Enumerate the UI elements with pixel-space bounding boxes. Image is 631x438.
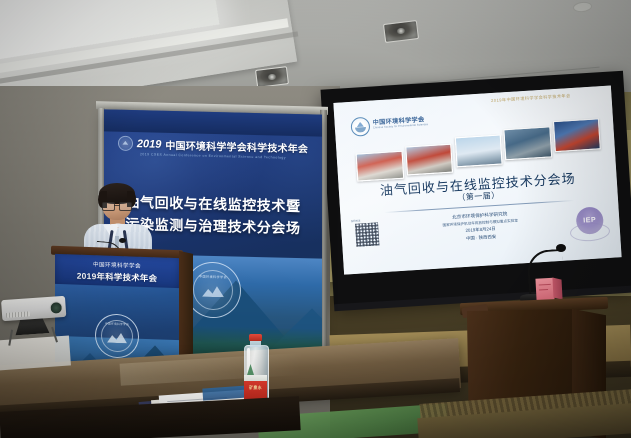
backdrop-seal-label: 中国环境科学学会 [186, 273, 240, 279]
slide-logo-en: Chinese Society for Environmental Scienc… [373, 124, 428, 130]
projector-body [1, 296, 66, 321]
recessed-spotlight-icon [383, 20, 419, 43]
recessed-spotlight-icon [255, 66, 289, 88]
ceiling-smoke-detector-icon [573, 1, 593, 13]
bottle-cap [249, 334, 262, 341]
projector-vent [6, 311, 30, 318]
presentation-slide: 2019年中国环境科学学会科学技术年会 中国环境科学学会 Chinese Soc… [333, 85, 621, 274]
projection-screen: 2019年中国环境科学学会科学技术年会 中国环境科学学会 Chinese Soc… [321, 71, 631, 306]
cses-emblem-icon [118, 136, 133, 151]
cses-emblem-icon [350, 116, 370, 136]
lectern-org-name: 中国环境科学学会 [93, 260, 141, 270]
slide-photo-thumbnail [553, 118, 601, 152]
presenter-glasses-icon [102, 202, 132, 209]
slide-photo-thumbnail [454, 135, 502, 168]
projector-lens-icon [49, 301, 63, 315]
conference-photo-scene: 2019年中国环境科学学会科学技术年会 中国环境科学学会 Chinese Soc… [0, 0, 631, 438]
microphone-head-icon [119, 238, 126, 243]
projector [1, 296, 67, 330]
slide-photo-thumbnail [405, 144, 453, 176]
qr-code-icon [355, 222, 379, 246]
name-card-side [552, 278, 562, 300]
lectern-society-seal: 中国环境科学学会 [95, 313, 139, 359]
backdrop-society-seal: 中国环境科学学会 [185, 261, 241, 318]
lectern-event-name: 2019年科学技术年会 [77, 270, 158, 285]
slide-header-banner: 2019年中国环境科学学会科学技术年会 [461, 91, 600, 106]
projection-screen-surface: 2019年中国环境科学学会科学技术年会 中国环境科学学会 Chinese Soc… [333, 85, 621, 274]
bottle-label-text: 矿泉水 [244, 385, 267, 391]
name-card [535, 277, 562, 300]
slide-photo-thumbnail [504, 126, 552, 159]
microphone-head-icon [556, 244, 566, 252]
slide-photo-thumbnail [356, 151, 404, 182]
slide-society-logo: 中国环境科学学会 Chinese Society for Environment… [350, 111, 429, 138]
lectern-seal-label: 中国环境科学学会 [96, 321, 138, 326]
backdrop-year: 2019 [137, 138, 161, 151]
bottle-neck [250, 340, 261, 347]
